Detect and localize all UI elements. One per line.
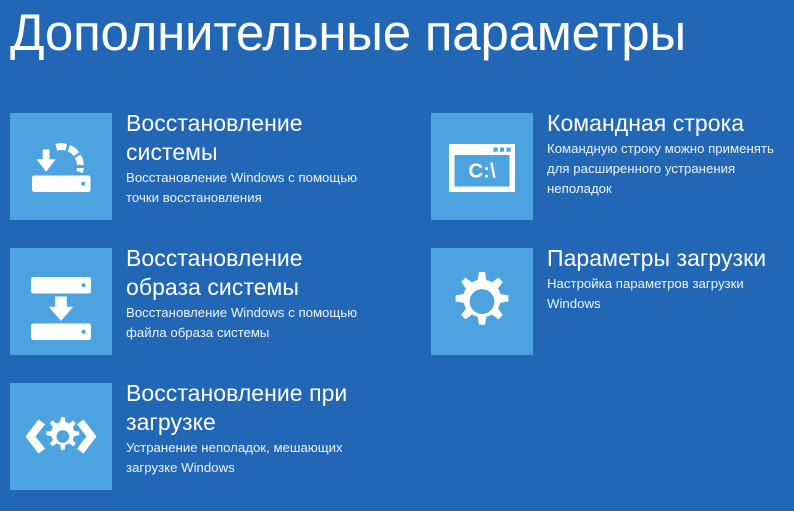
option-body: Восстановление при загрузке Устранение н… [126, 379, 426, 478]
option-description: Восстановление Windows с помощью точки в… [126, 168, 426, 208]
option-tile[interactable] [10, 248, 112, 355]
command-prompt-icon: C:\ [431, 113, 533, 220]
option-tile[interactable] [431, 248, 533, 355]
option-tile[interactable]: C:\ [431, 113, 533, 220]
option-description: Восстановление Windows с помощью файла о… [126, 303, 426, 343]
options-grid: Восстановление системы Восстановление Wi… [0, 113, 794, 511]
system-image-recovery-icon [10, 248, 112, 355]
startup-repair-icon [10, 383, 112, 490]
option-description: Устранение неполадок, мешающих загрузке … [126, 438, 426, 478]
system-restore-icon [10, 113, 112, 220]
option-heading: Восстановление системы [126, 109, 426, 167]
option-body: Восстановление образа системы Восстановл… [126, 244, 426, 343]
option-description: Настройка параметров загрузки Windows [547, 274, 794, 314]
option-heading: Параметры загрузки [547, 244, 794, 273]
option-tile[interactable] [10, 383, 112, 490]
page-title: Дополнительные параметры [10, 2, 686, 64]
option-heading: Командная строка [547, 109, 794, 138]
advanced-options-screen: Дополнительные параметры [0, 0, 794, 511]
option-body: Восстановление системы Восстановление Wi… [126, 109, 426, 208]
startup-settings-icon [431, 248, 533, 355]
command-prompt-label: C:\ [468, 160, 496, 183]
option-body: Параметры загрузки Настройка параметров … [547, 244, 794, 314]
option-description: Командную строку можно применять для рас… [547, 139, 794, 199]
option-tile[interactable] [10, 113, 112, 220]
option-heading: Восстановление при загрузке [126, 379, 426, 437]
option-body: Командная строка Командную строку можно … [547, 109, 794, 199]
option-heading: Восстановление образа системы [126, 244, 426, 302]
